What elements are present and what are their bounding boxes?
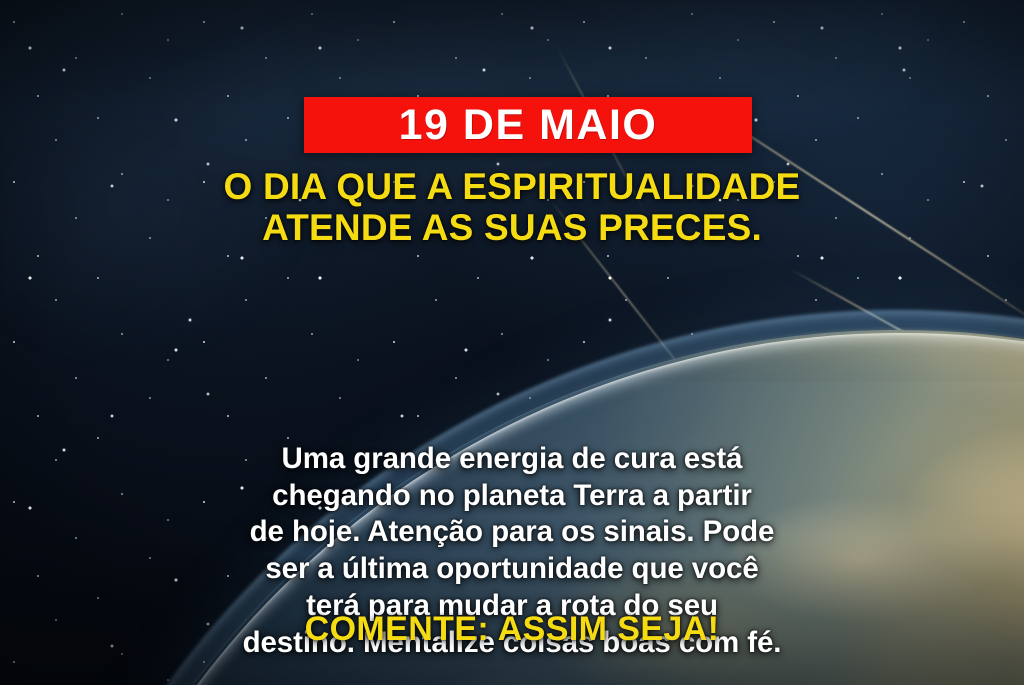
call-to-action-label: COMENTE: ASSIM SEJA! (305, 610, 720, 648)
body-line-1: Uma grande energia de cura está (52, 441, 972, 478)
poster-image: 19 DE MAIO O DIA QUE A ESPIRITUALIDADE A… (0, 0, 1024, 685)
date-banner: 19 DE MAIO (304, 97, 752, 153)
body-line-4: ser a última oportunidade que você (52, 551, 972, 588)
headline: O DIA QUE A ESPIRITUALIDADE ATENDE AS SU… (0, 166, 1024, 249)
body-line-2: chegando no planeta Terra a partir (52, 478, 972, 515)
body-line-3: de hoje. Atenção para os sinais. Pode (52, 514, 972, 551)
poster-content: 19 DE MAIO O DIA QUE A ESPIRITUALIDADE A… (0, 0, 1024, 685)
date-banner-label: 19 DE MAIO (399, 104, 658, 147)
call-to-action: COMENTE: ASSIM SEJA! (0, 612, 1024, 646)
headline-line-2: ATENDE AS SUAS PRECES. (60, 207, 964, 248)
headline-line-1: O DIA QUE A ESPIRITUALIDADE (60, 166, 964, 207)
